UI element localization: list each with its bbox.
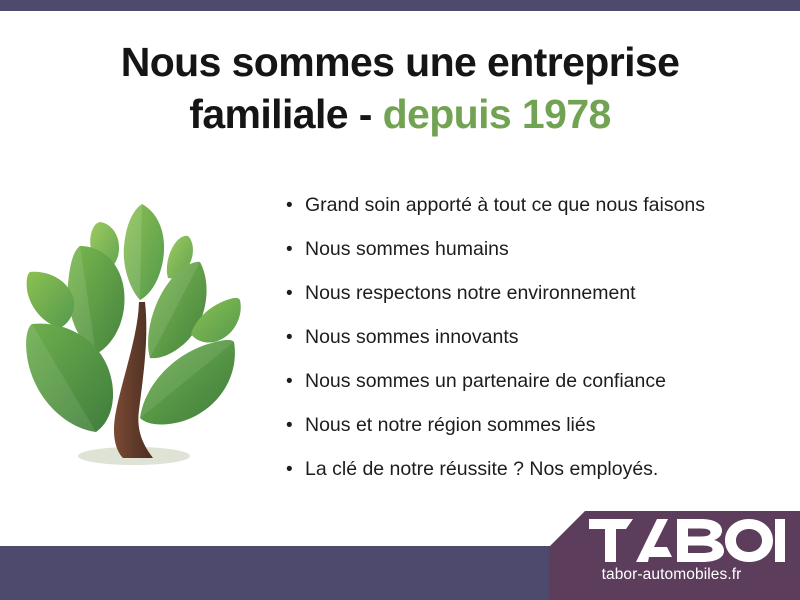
list-item: • Grand soin apporté à tout ce que nous …: [286, 192, 756, 236]
bullet-marker-icon: •: [286, 457, 305, 483]
bullet-marker-icon: •: [286, 413, 305, 439]
title-line-1: Nous sommes une entreprise: [0, 36, 800, 88]
bullet-marker-icon: •: [286, 325, 305, 351]
list-item-label: Nous et notre région sommes liés: [305, 412, 595, 438]
benefits-list: • Grand soin apporté à tout ce que nous …: [286, 192, 756, 500]
title-line-2-accent: depuis 1978: [383, 91, 611, 137]
tabor-logo-icon: [589, 519, 785, 563]
list-item-label: Nous respectons notre environnement: [305, 280, 636, 306]
tree-trunk: [114, 302, 153, 458]
brand-logo-panel[interactable]: tabor-automobiles.fr: [549, 511, 800, 600]
slide-root: Nous sommes une entreprise familiale - d…: [0, 0, 800, 600]
bullet-marker-icon: •: [286, 281, 305, 307]
tree-illustration: [18, 196, 248, 488]
list-item-label: La clé de notre réussite ? Nos employés.: [305, 456, 658, 482]
title-line-2-main: familiale -: [189, 91, 372, 137]
bullet-marker-icon: •: [286, 237, 305, 263]
list-item-label: Nous sommes un partenaire de confiance: [305, 368, 666, 394]
list-item-label: Grand soin apporté à tout ce que nous fa…: [305, 192, 705, 218]
page-title: Nous sommes une entreprise familiale - d…: [0, 36, 800, 140]
list-item: • Nous sommes humains: [286, 236, 756, 280]
list-item: • Nous et notre région sommes liés: [286, 412, 756, 456]
list-item: • La clé de notre réussite ? Nos employé…: [286, 456, 756, 500]
bullet-marker-icon: •: [286, 369, 305, 395]
brand-url[interactable]: tabor-automobiles.fr: [549, 566, 800, 584]
leaf-far-left: [27, 272, 74, 328]
list-item: • Nous sommes innovants: [286, 324, 756, 368]
top-accent-bar: [0, 0, 800, 11]
title-line-2: familiale - depuis 1978: [0, 88, 800, 140]
bullet-marker-icon: •: [286, 193, 305, 219]
list-item: • Nous sommes un partenaire de confiance: [286, 368, 756, 412]
list-item-label: Nous sommes innovants: [305, 324, 519, 350]
list-item: • Nous respectons notre environnement: [286, 280, 756, 324]
list-item-label: Nous sommes humains: [305, 236, 509, 262]
